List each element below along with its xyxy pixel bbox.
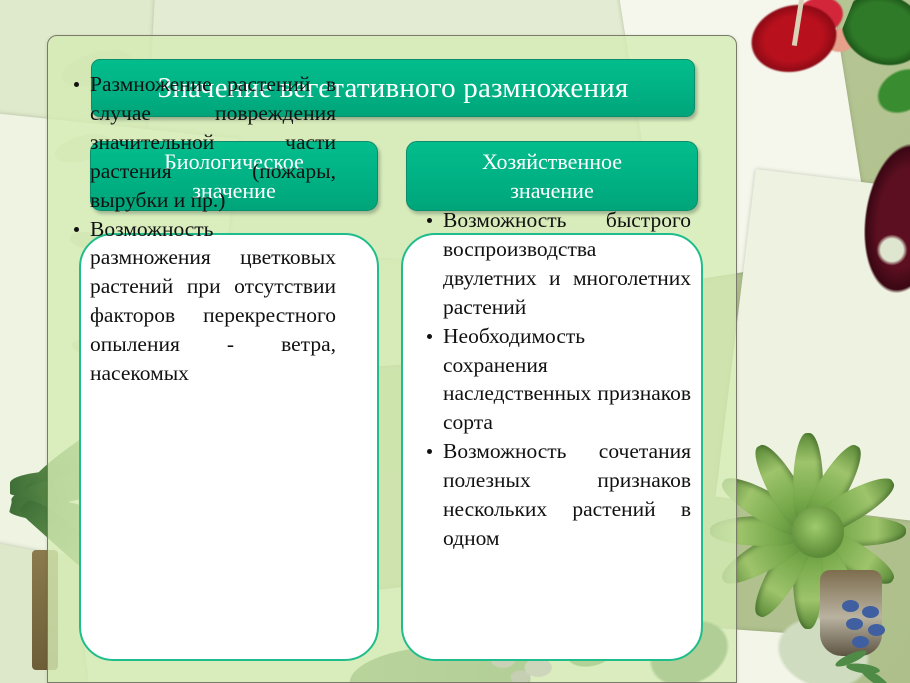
column-header-economic: Хозяйственное значение [406, 141, 698, 211]
list-item: Возможность сочетания полезных признаков… [415, 437, 691, 553]
list-item: Возможность размножения цветковых растен… [62, 215, 336, 388]
list-item: Необходимость сохранения наследственных … [415, 322, 691, 438]
bullet-list-economic: Возможность быстрого воспроизводства дву… [415, 206, 691, 553]
flower-tip-icon [872, 230, 910, 270]
bullet-list-economic-wrapper: Возможность быстрого воспроизводства дву… [401, 204, 703, 666]
bullet-list-biological: Размножение растений в случае повреждени… [62, 70, 336, 388]
list-item: Возможность быстрого воспроизводства дву… [415, 206, 691, 322]
content-panel: Значение вегетативного размножения Биоло… [47, 35, 737, 683]
list-item: Размножение растений в случае повреждени… [62, 70, 336, 215]
column-header-economic-label: Хозяйственное значение [482, 147, 622, 205]
blue-lupine-icon [828, 596, 908, 683]
